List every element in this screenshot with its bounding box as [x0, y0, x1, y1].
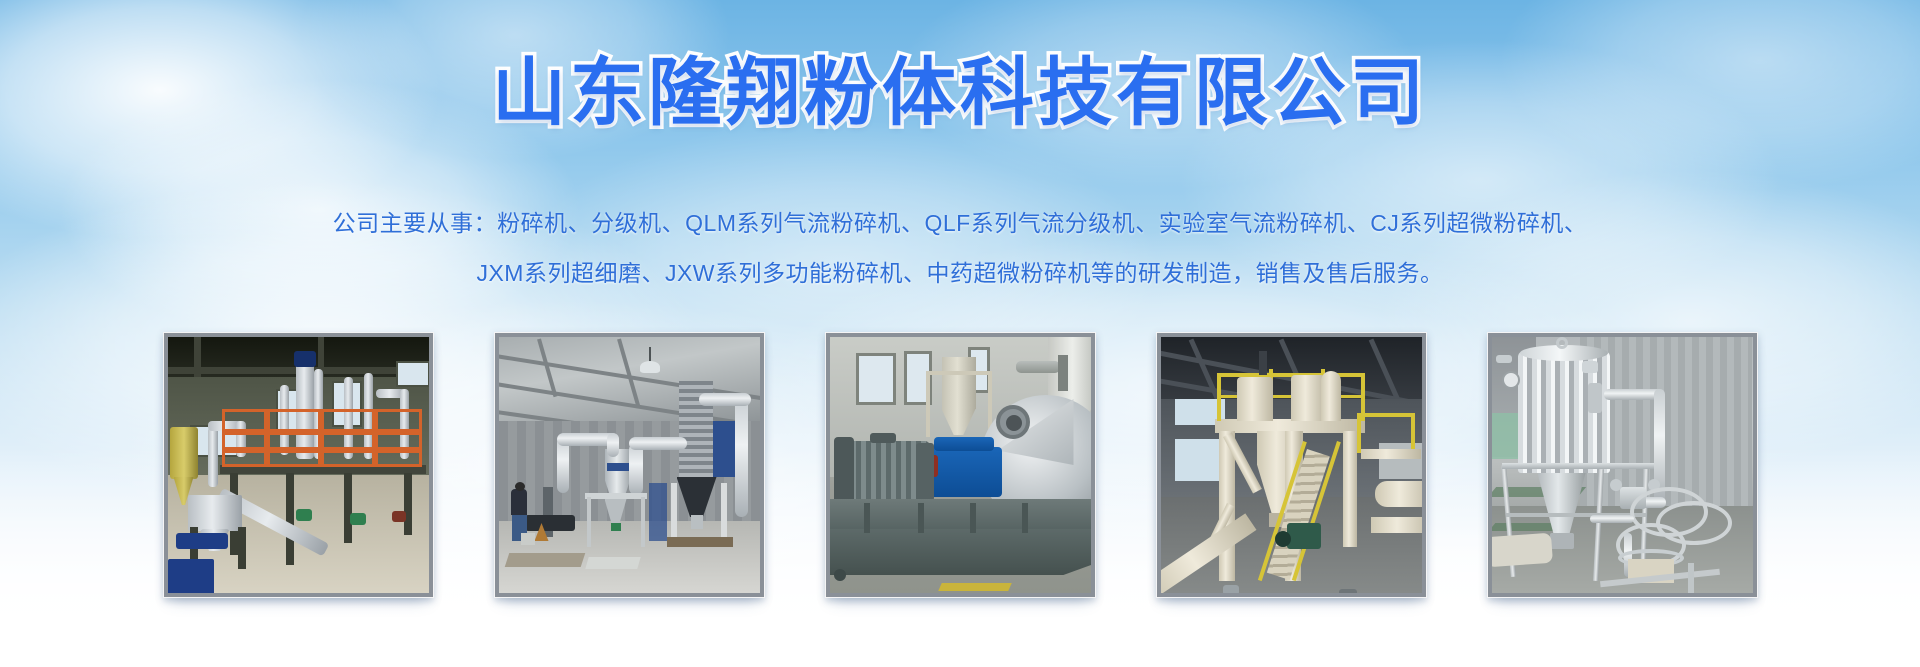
company-title: 山东隆翔粉体科技有限公司 [0, 52, 1920, 133]
tagline-line-1: 公司主要从事：粉碎机、分级机、QLM系列气流粉碎机、QLF系列气流分级机、实验室… [0, 198, 1920, 248]
tagline-line-2: JXM系列超细磨、JXW系列多功能粉碎机、中药超微粉碎机等的研发制造，销售及售后… [0, 248, 1920, 298]
product-photo-3[interactable] [825, 332, 1096, 598]
product-photo-5[interactable] [1487, 332, 1758, 598]
product-photo-2[interactable] [494, 332, 765, 598]
company-tagline: 公司主要从事：粉碎机、分级机、QLM系列气流粉碎机、QLF系列气流分级机、实验室… [0, 198, 1920, 298]
product-photo-4[interactable] [1156, 332, 1427, 598]
product-photo-1[interactable] [163, 332, 434, 598]
product-photo-strip [0, 332, 1920, 602]
